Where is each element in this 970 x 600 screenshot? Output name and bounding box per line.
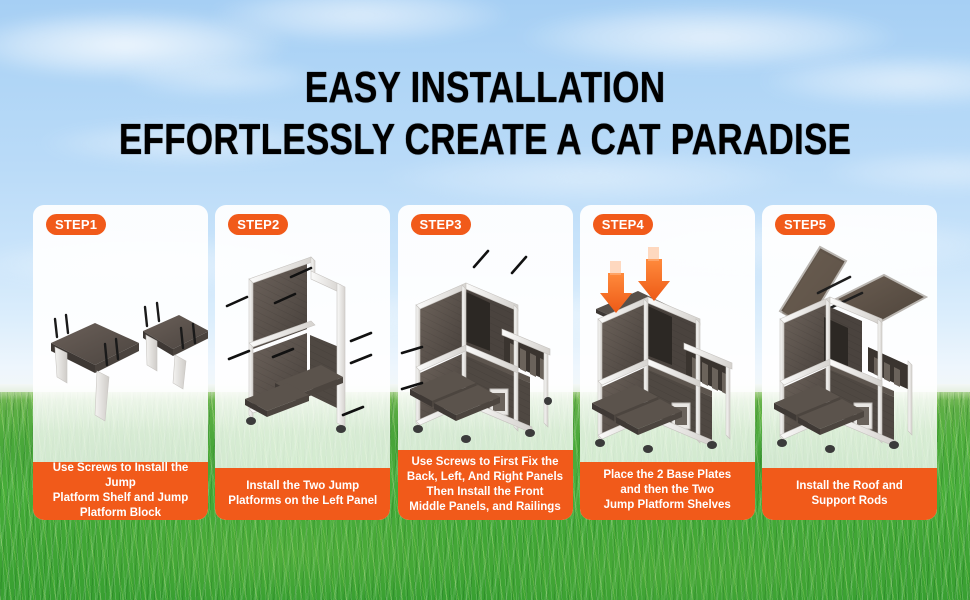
step-card-4[interactable]: STEP4 [580, 205, 755, 520]
roof-and-support-rods-illustration [762, 231, 937, 453]
step-card-1[interactable]: STEP1 [33, 205, 208, 520]
caption-line: Platform Shelf and Jump [40, 491, 201, 506]
caption-line: Platform Block [40, 506, 201, 521]
steps-row: STEP1 [33, 205, 937, 520]
caption-line: Support Rods [796, 494, 903, 509]
caption-line: Install the Two Jump [228, 479, 377, 494]
caption-line: Back, Left, And Right Panels [407, 470, 563, 485]
caption-line: and then the Two [603, 483, 731, 498]
caption-line: Middle Panels, and Railings [407, 500, 563, 515]
caption-line: Then Install the Front [407, 485, 563, 500]
infographic-stage: EASY INSTALLATION EFFORTLESSLY CREATE A … [0, 0, 970, 600]
step-badge-4: STEP4 [593, 214, 653, 235]
step-card-3[interactable]: STEP3 [398, 205, 573, 520]
left-panel-with-jump-platforms-illustration [215, 231, 390, 453]
caption-line: Install the Roof and [796, 479, 903, 494]
page-title: EASY INSTALLATION EFFORTLESSLY CREATE A … [0, 66, 970, 162]
step-caption-5: Install the Roof and Support Rods [762, 468, 937, 520]
assembled-panels-and-railings-illustration [398, 231, 573, 453]
caption-line: Jump Platform Shelves [603, 498, 731, 513]
step-caption-3: Use Screws to First Fix the Back, Left, … [398, 450, 573, 520]
step-badge-1: STEP1 [46, 214, 106, 235]
caption-line: Use Screws to Install the Jump [40, 461, 201, 491]
caption-line: Place the 2 Base Plates [603, 468, 731, 483]
caption-line: Use Screws to First Fix the [407, 455, 563, 470]
step-card-5[interactable]: STEP5 [762, 205, 937, 520]
step-badge-3: STEP3 [411, 214, 471, 235]
step-caption-2: Install the Two Jump Platforms on the Le… [215, 468, 390, 520]
step-caption-4: Place the 2 Base Plates and then the Two… [580, 462, 755, 520]
title-line-2: EFFORTLESSLY CREATE A CAT PARADISE [97, 118, 873, 162]
jump-platform-shelf-and-block-illustration [33, 231, 208, 453]
step-badge-5: STEP5 [775, 214, 835, 235]
title-line-1: EASY INSTALLATION [97, 66, 873, 110]
base-plates-placement-illustration [580, 231, 755, 453]
step-card-2[interactable]: STEP2 [215, 205, 390, 520]
step-badge-2: STEP2 [228, 214, 288, 235]
caption-line: Platforms on the Left Panel [228, 494, 377, 509]
step-caption-1: Use Screws to Install the Jump Platform … [33, 462, 208, 520]
